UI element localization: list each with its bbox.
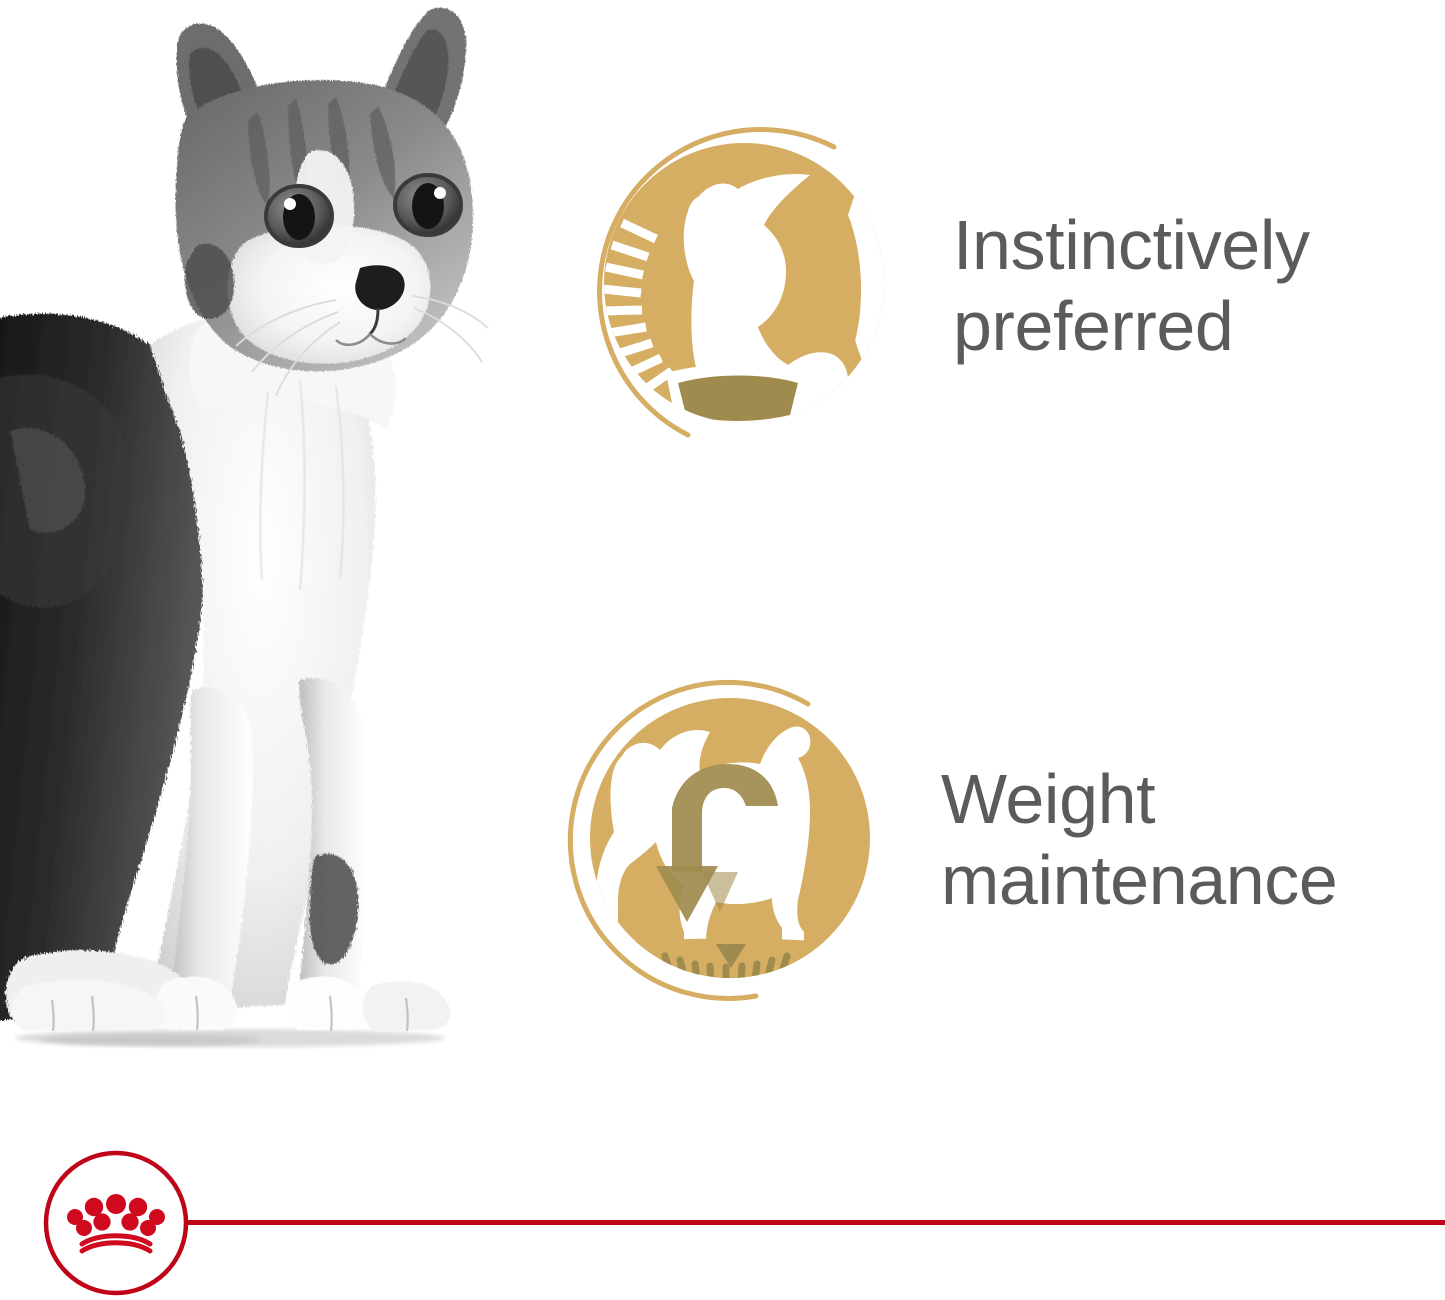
instinctively-preferred-icon — [548, 105, 908, 467]
weight-maintenance-icon — [560, 660, 896, 1020]
kitten-photo — [0, 0, 520, 1070]
benefit-row-instinctively-preferred: Instinctively preferred — [548, 105, 1310, 467]
benefit-row-weight-maintenance: Weight maintenance — [560, 660, 1337, 1020]
footer-divider-rule — [186, 1220, 1445, 1225]
product-feature-panel: Instinctively preferred — [0, 0, 1445, 1300]
royal-canin-crown-logo — [42, 1149, 190, 1297]
benefit-label-weight-maintenance: Weight maintenance — [941, 759, 1337, 921]
benefit-label-instinctively-preferred: Instinctively preferred — [953, 205, 1310, 367]
